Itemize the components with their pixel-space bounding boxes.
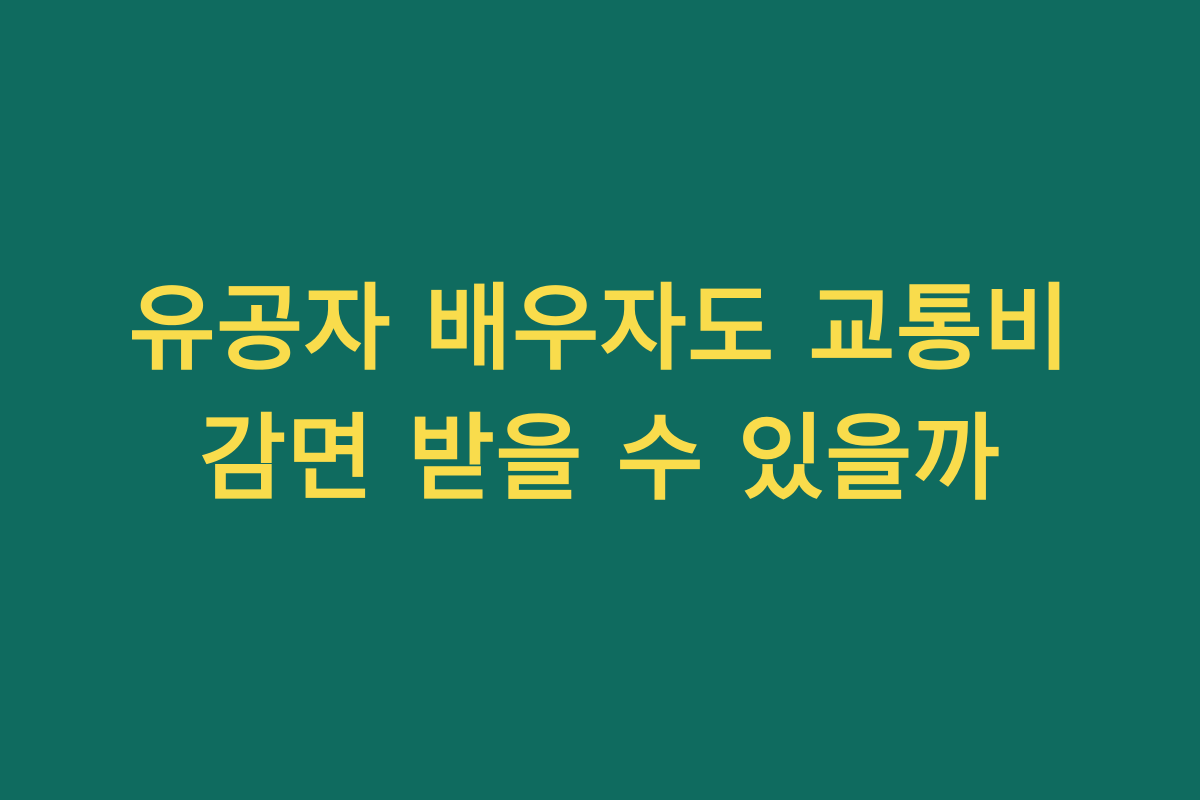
headline-line-2: 감면 받을 수 있을까 — [0, 395, 1200, 525]
headline-block: 유공자 배우자도 교통비 감면 받을 수 있을까 — [0, 265, 1200, 525]
thumbnail-card: 유공자 배우자도 교통비 감면 받을 수 있을까 — [0, 0, 1200, 800]
headline-line-1: 유공자 배우자도 교통비 — [0, 265, 1200, 395]
